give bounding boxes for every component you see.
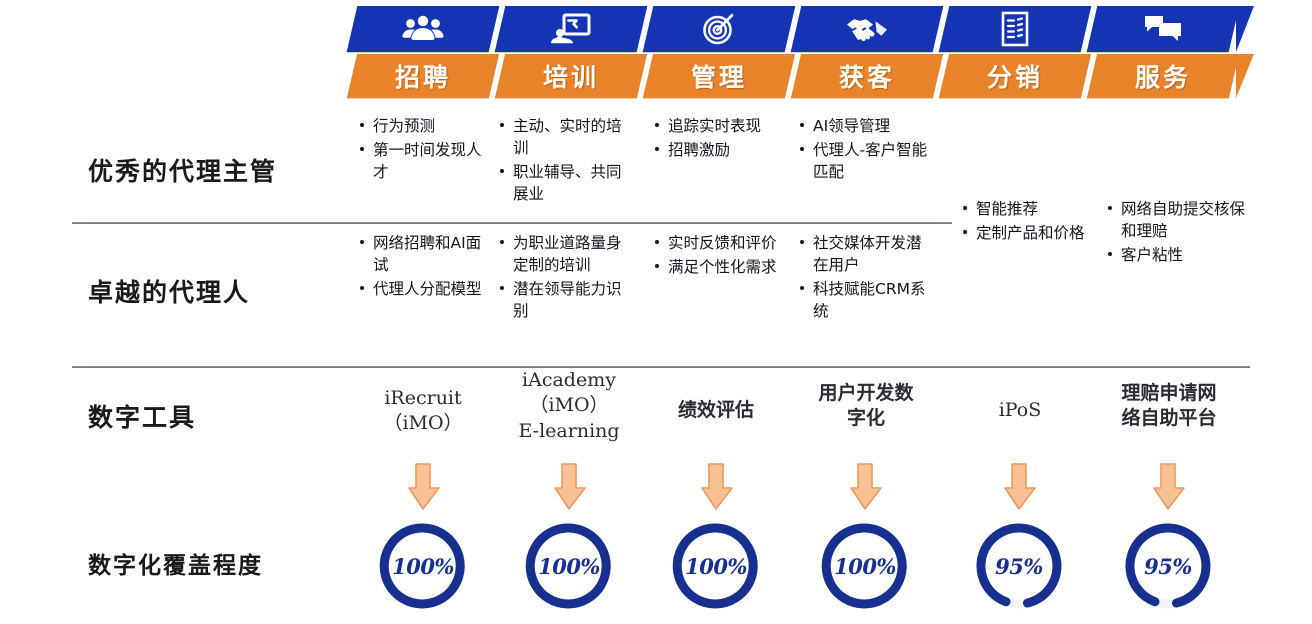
segment-label-band <box>791 54 943 98</box>
row-label-digital-coverage: 数字化覆盖程度 <box>88 546 368 580</box>
tool-line: 用户开发数 <box>791 381 941 406</box>
tool-line: 字化 <box>791 406 941 431</box>
bullet-item: 客户粘性 <box>1108 244 1254 266</box>
segment-label-band <box>347 54 499 98</box>
cell-agent-recruit: 网络招聘和AI面试 代理人分配模型 <box>360 232 494 302</box>
coverage-donut-recruit: 100% <box>375 518 471 614</box>
coverage-donut-distribution: 95% <box>971 518 1067 614</box>
bullet-item: 智能推荐 <box>963 198 1095 220</box>
bullet-item: 代理人分配模型 <box>360 278 494 300</box>
infographic-canvas: 招聘 培训 <box>0 0 1312 624</box>
cell-supervisor-management: 追踪实时表现 招聘激励 <box>655 115 787 163</box>
tool-line: 绩效评估 <box>641 398 791 423</box>
tool-claims-platform: 理赔申请网 络自助平台 <box>1094 381 1244 432</box>
down-arrow-icon <box>696 462 736 512</box>
tool-line: E-learning <box>494 419 644 444</box>
row-label-supervisor: 优秀的代理主管 <box>88 152 368 188</box>
cell-agent-management: 实时反馈和评价 满足个性化需求 <box>655 232 787 280</box>
bullet-item: 网络自助提交核保和理赔 <box>1108 198 1254 242</box>
bullet-item: 职业辅导、共同展业 <box>500 161 632 205</box>
ribbon-tail-label-band <box>1236 54 1254 98</box>
tool-ipos: iPoS <box>945 398 1095 423</box>
bullet-item: 定制产品和价格 <box>963 222 1095 244</box>
cell-agent-training: 为职业道路量身定制的培训 潜在领导能力识别 <box>500 232 634 324</box>
down-arrow-icon <box>403 462 443 512</box>
bullet-item: 科技赋能CRM系统 <box>800 278 936 322</box>
tool-line: iAcademy <box>494 368 644 393</box>
process-ribbon: 招聘 培训 <box>352 6 1252 102</box>
cell-supervisor-acquisition: AI领导管理 代理人-客户智能匹配 <box>800 115 936 185</box>
bullet-item: 满足个性化需求 <box>655 256 787 278</box>
tool-line: iPoS <box>945 398 1095 423</box>
tool-customer-development: 用户开发数 字化 <box>791 381 941 432</box>
bullet-item: 代理人-客户智能匹配 <box>800 139 936 183</box>
bullet-item: 招聘激励 <box>655 139 787 161</box>
cell-supervisor-training: 主动、实时的培训 职业辅导、共同展业 <box>500 115 632 207</box>
coverage-value: 95% <box>1120 518 1216 614</box>
bullet-item: 社交媒体开发潜在用户 <box>800 232 936 276</box>
segment-label-band <box>495 54 647 98</box>
segment-label-band <box>643 54 795 98</box>
row-label-digital-tools: 数字工具 <box>88 398 368 434</box>
down-arrow-icon <box>1148 462 1188 512</box>
coverage-value: 100% <box>375 518 471 614</box>
divider-supervisor-agent <box>72 222 952 224</box>
coverage-value: 100% <box>817 518 913 614</box>
segment-icon-band <box>643 6 796 52</box>
segment-label-band <box>1087 54 1239 98</box>
coverage-value: 100% <box>668 518 764 614</box>
bullet-item: 为职业道路量身定制的培训 <box>500 232 634 276</box>
coverage-donut-service: 95% <box>1120 518 1216 614</box>
coverage-donut-training: 100% <box>521 518 617 614</box>
ribbon-segment-management[interactable]: 管理 <box>648 6 796 102</box>
down-arrow-icon <box>999 462 1039 512</box>
segment-icon-band <box>347 6 500 52</box>
row-label-agent: 卓越的代理人 <box>88 273 368 309</box>
coverage-value: 100% <box>521 518 617 614</box>
bullet-item: 实时反馈和评价 <box>655 232 787 254</box>
segment-icon-band <box>791 6 944 52</box>
tool-line: （iMO） <box>348 411 498 436</box>
cell-supervisor-recruit: 行为预测 第一时间发现人才 <box>360 115 492 185</box>
tool-line: （iMO） <box>494 393 644 418</box>
tool-line: 理赔申请网 <box>1094 381 1244 406</box>
segment-label-band <box>939 54 1091 98</box>
down-arrow-icon <box>549 462 589 512</box>
bullet-item: 主动、实时的培训 <box>500 115 632 159</box>
coverage-donut-acquisition: 100% <box>817 518 913 614</box>
ribbon-segment-distribution[interactable]: 分销 <box>944 6 1092 102</box>
divider-agent-tools <box>72 366 1250 368</box>
tool-line: 络自助平台 <box>1094 406 1244 431</box>
segment-icon-band <box>495 6 648 52</box>
tool-irecruit: iRecruit （iMO） <box>348 386 498 437</box>
segment-icon-band <box>939 6 1092 52</box>
segment-icon-band <box>1087 6 1240 52</box>
ribbon-tail-icon-band <box>1236 6 1254 52</box>
tool-performance-review: 绩效评估 <box>641 398 791 423</box>
ribbon-segment-recruit[interactable]: 招聘 <box>352 6 500 102</box>
bullet-item: 行为预测 <box>360 115 492 137</box>
cell-agent-acquisition: 社交媒体开发潜在用户 科技赋能CRM系统 <box>800 232 936 324</box>
ribbon-segment-acquisition[interactable]: 获客 <box>796 6 944 102</box>
coverage-donut-management: 100% <box>668 518 764 614</box>
cell-span-service: 网络自助提交核保和理赔 客户粘性 <box>1108 198 1254 268</box>
bullet-item: AI领导管理 <box>800 115 936 137</box>
bullet-item: 追踪实时表现 <box>655 115 787 137</box>
coverage-value: 95% <box>971 518 1067 614</box>
tool-line: iRecruit <box>348 386 498 411</box>
bullet-item: 网络招聘和AI面试 <box>360 232 494 276</box>
ribbon-segment-service[interactable]: 服务 <box>1092 6 1240 102</box>
cell-span-distribution: 智能推荐 定制产品和价格 <box>963 198 1095 246</box>
ribbon-segment-training[interactable]: 培训 <box>500 6 648 102</box>
tool-iacademy: iAcademy （iMO） E-learning <box>494 368 644 444</box>
down-arrow-icon <box>845 462 885 512</box>
ribbon-tail <box>1236 6 1254 102</box>
bullet-item: 潜在领导能力识别 <box>500 278 634 322</box>
bullet-item: 第一时间发现人才 <box>360 139 492 183</box>
